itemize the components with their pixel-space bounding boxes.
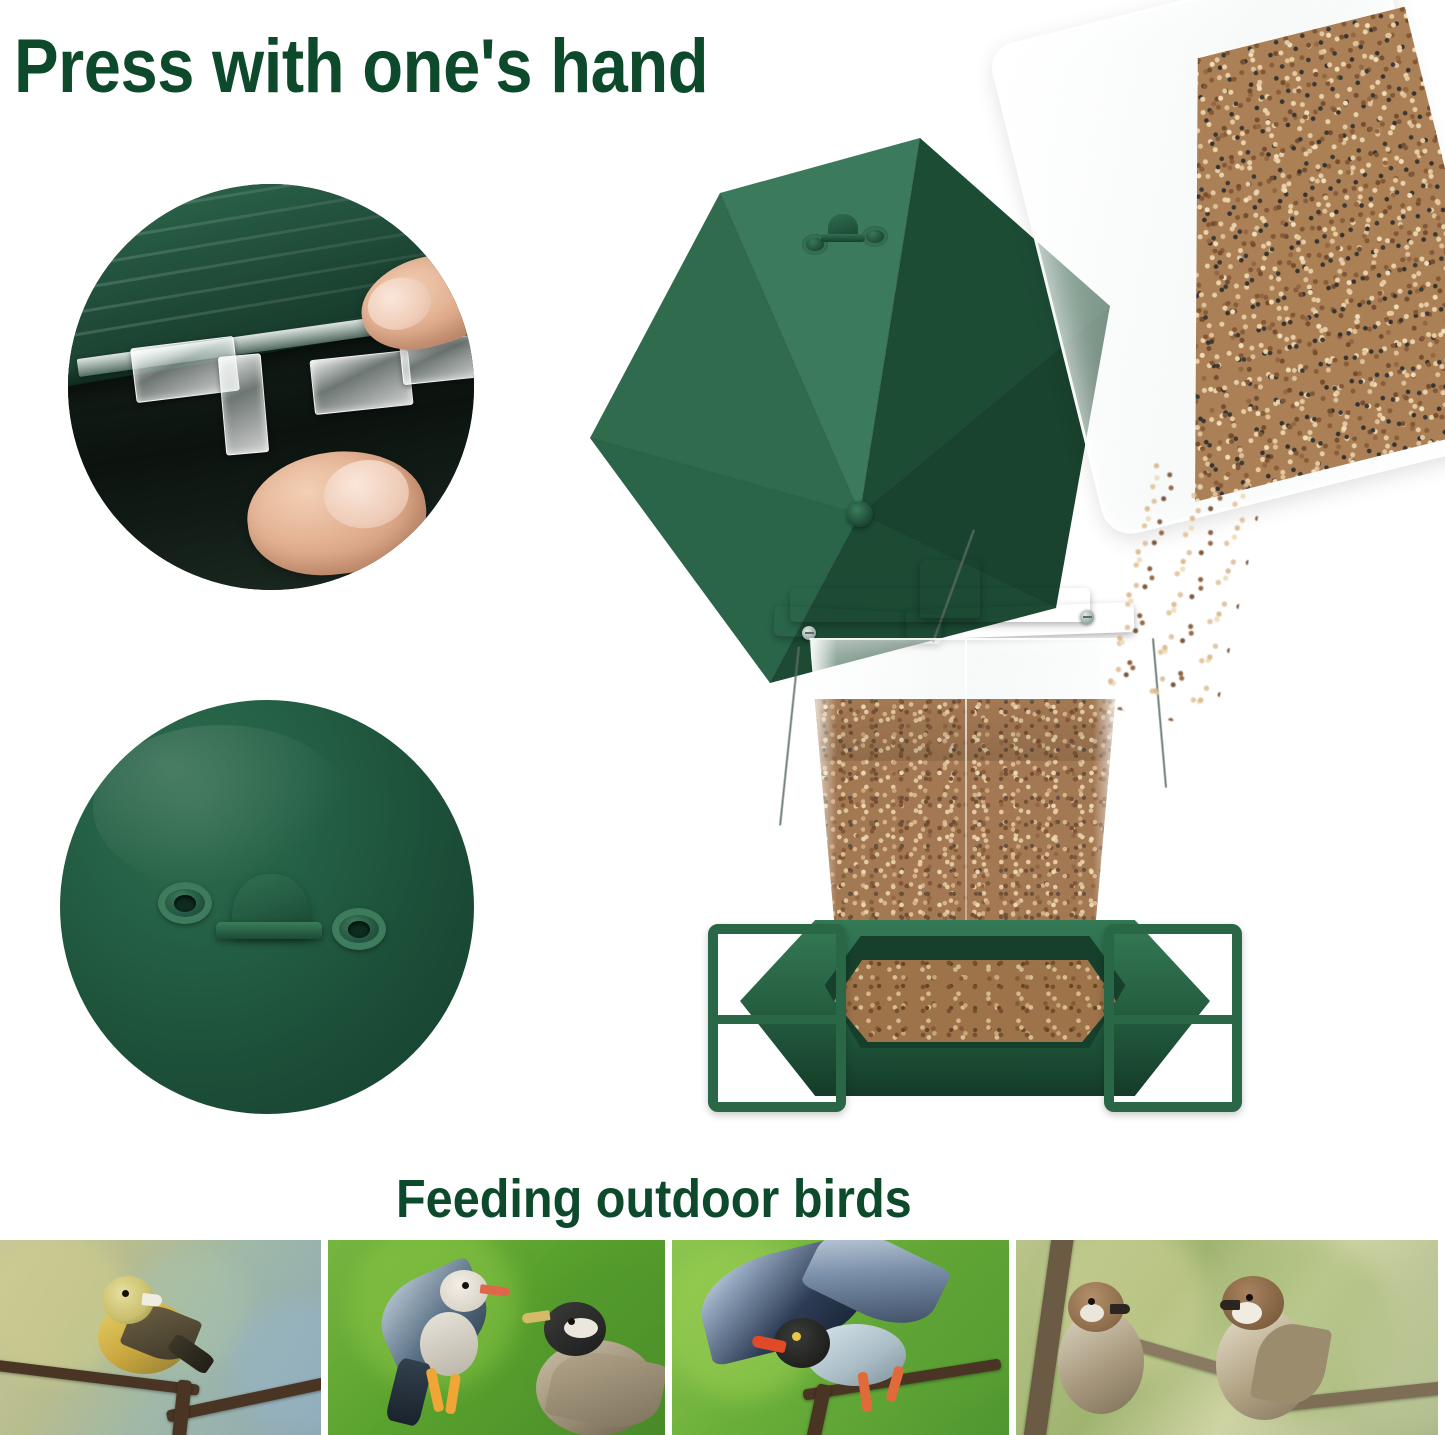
grommet-right <box>332 908 386 950</box>
tray-seed <box>834 960 1116 1042</box>
grommet-left <box>158 882 212 924</box>
bird-starling-perched <box>526 1296 665 1435</box>
photo-greenfinch[interactable] <box>0 1240 321 1435</box>
plastic-clip-right <box>309 349 414 414</box>
bird-photo-strip <box>0 1240 1445 1435</box>
roof-vent-right <box>862 226 888 247</box>
center-hook-tab <box>232 874 310 936</box>
product-infographic-page: Press with one's hand Feeding outdoor bi… <box>0 0 1445 1435</box>
hexagonal-tray-base <box>740 902 1210 1132</box>
perch-arm-right <box>1104 924 1242 1112</box>
bird-greenfinch <box>92 1266 222 1392</box>
roof-hook-tab <box>828 214 858 240</box>
roof-center-hub <box>847 501 873 527</box>
cap-highlight <box>93 725 350 891</box>
photo-blue-magpie[interactable] <box>672 1240 1009 1435</box>
bracket-screw-right <box>1080 610 1094 624</box>
bracket-riser <box>920 560 980 618</box>
bird-starling-flying <box>386 1256 526 1428</box>
bird-sparrow-left <box>1054 1282 1164 1418</box>
perch-arm-left <box>708 924 846 1112</box>
inset-clip-detail <box>68 184 474 590</box>
bracket-screw-left <box>802 626 816 640</box>
plastic-clip-center <box>218 353 269 456</box>
bird-blue-magpie <box>700 1246 950 1406</box>
photo-starlings[interactable] <box>328 1240 665 1435</box>
bird-sparrow-right <box>1206 1276 1336 1426</box>
photo-tree-sparrows[interactable] <box>1016 1240 1438 1435</box>
inset-cap-underside <box>60 700 474 1114</box>
